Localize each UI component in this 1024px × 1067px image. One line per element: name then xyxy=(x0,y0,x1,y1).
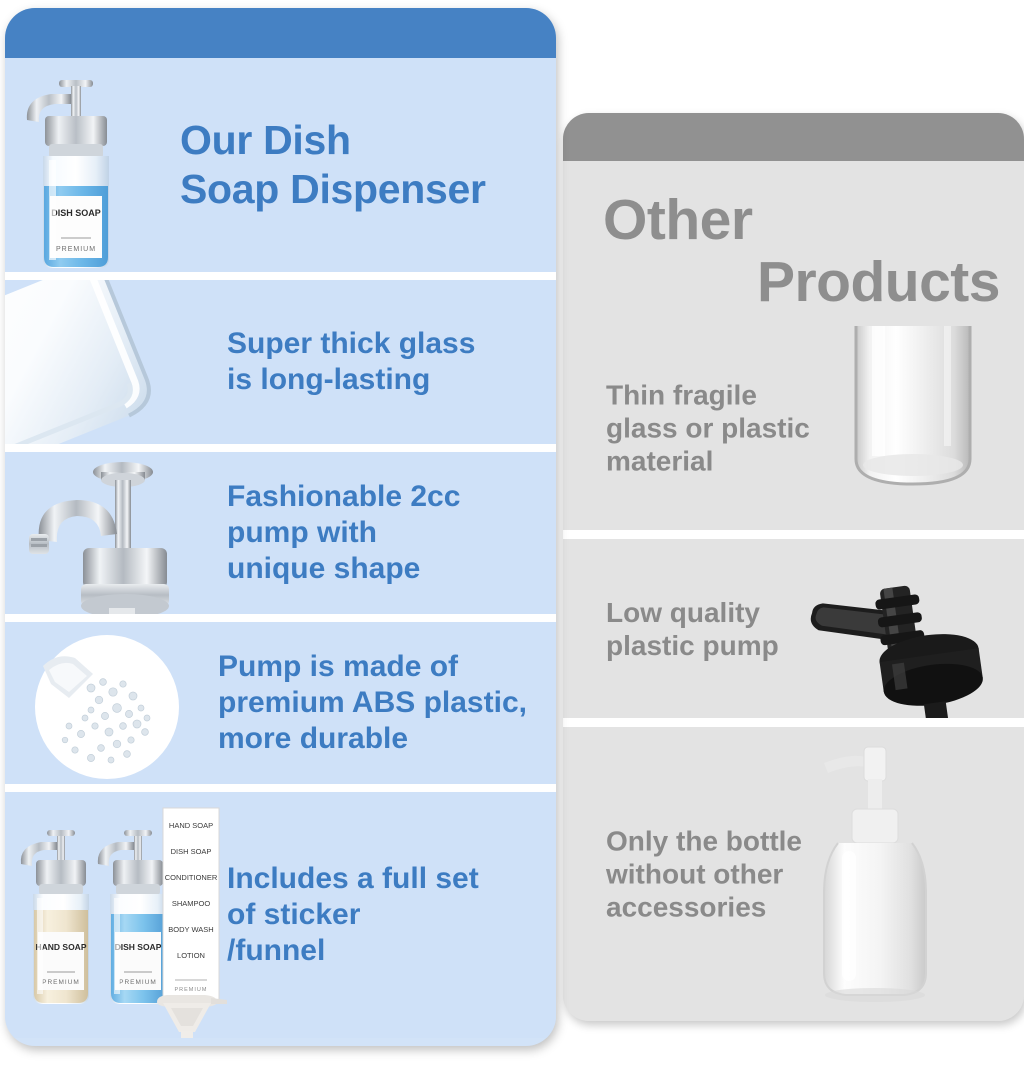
svg-text:PREMIUM: PREMIUM xyxy=(42,979,80,986)
svg-text:DISH SOAP: DISH SOAP xyxy=(115,942,162,952)
our-row-abs-text: Pump is made of premium ABS plastic, mor… xyxy=(218,649,556,757)
our-row-pump-text: Fashionable 2cc pump with unique shape xyxy=(227,479,547,587)
text-line: Pump is made of xyxy=(218,649,556,685)
black-plastic-pump-image xyxy=(794,539,1024,718)
abs-pellets-circle-image xyxy=(5,622,218,784)
text-line: premium ABS plastic, xyxy=(218,685,556,721)
our-product-panel: DISH SOAP PREMIUM Our Dish Soap Dispense… xyxy=(5,8,556,1046)
hero-dish-soap-dispenser-image: DISH SOAP PREMIUM xyxy=(5,58,180,272)
other-products-title-line1: Other xyxy=(603,189,1006,251)
svg-text:LOTION: LOTION xyxy=(177,951,205,960)
svg-text:HAND SOAP: HAND SOAP xyxy=(35,942,86,952)
svg-text:SHAMPOO: SHAMPOO xyxy=(172,899,211,908)
text-line: is long-lasting xyxy=(227,362,556,398)
text-line: Super thick glass xyxy=(227,326,556,362)
text-line: Fashionable 2cc xyxy=(227,479,547,515)
our-row-title: DISH SOAP PREMIUM Our Dish Soap Dispense… xyxy=(5,58,556,280)
other-products-rows: Thin fragile glass or plastic material xyxy=(563,326,1024,1021)
chrome-pump-image xyxy=(5,452,227,614)
text-line: Includes a full set xyxy=(227,861,556,897)
svg-text:PREMIUM: PREMIUM xyxy=(56,246,96,253)
sticker-sheet: HAND SOAP DISH SOAP CONDITIONER SHAMPOO … xyxy=(163,808,219,1000)
other-products-panel: Other Products Thin fragile glass or pla… xyxy=(563,113,1024,1021)
our-row-glass-text: Super thick glass is long-lasting xyxy=(227,326,556,398)
svg-text:PREMIUM: PREMIUM xyxy=(175,987,208,993)
text-line: /funnel xyxy=(227,933,556,969)
our-product-rows: DISH SOAP PREMIUM Our Dish Soap Dispense… xyxy=(5,58,556,1046)
svg-text:CONDITIONER: CONDITIONER xyxy=(165,873,218,882)
svg-text:PREMIUM: PREMIUM xyxy=(119,979,157,986)
our-row-abs: Pump is made of premium ABS plastic, mor… xyxy=(5,622,556,792)
svg-text:DISH SOAP: DISH SOAP xyxy=(171,847,212,856)
our-row-glass: Super thick glass is long-lasting xyxy=(5,280,556,452)
our-product-title: Our Dish Soap Dispenser xyxy=(180,116,555,214)
funnel xyxy=(157,995,227,1038)
svg-text:HAND SOAP: HAND SOAP xyxy=(169,821,213,830)
our-row-pump: Fashionable 2cc pump with unique shape xyxy=(5,452,556,622)
our-row-accessories-text: Includes a full set of sticker /funnel xyxy=(227,861,556,969)
our-row-accessories: HAND SOAP PREMIUM xyxy=(5,792,556,1038)
text-line: more durable xyxy=(218,721,556,757)
text-line: of sticker xyxy=(227,897,556,933)
text-line: pump with xyxy=(227,515,547,551)
other-products-title-line2: Products xyxy=(603,251,1006,313)
our-product-header-bar xyxy=(5,8,556,58)
svg-text:BODY WASH: BODY WASH xyxy=(168,925,213,934)
other-products-title: Other Products xyxy=(563,161,1024,326)
other-row-pump: Low quality plastic pump xyxy=(563,539,1024,727)
our-product-title-line1: Our Dish xyxy=(180,116,555,165)
other-row-accessories: Only the bottle without other accessorie… xyxy=(563,727,1024,1021)
text-line: unique shape xyxy=(227,551,547,587)
white-plastic-dispenser-image xyxy=(794,727,1024,1021)
other-products-header-bar xyxy=(563,113,1024,161)
comparison-infographic: Other Products Thin fragile glass or pla… xyxy=(0,0,1024,1067)
our-product-title-line2: Soap Dispenser xyxy=(180,165,555,214)
svg-text:DISH SOAP: DISH SOAP xyxy=(51,208,101,218)
plain-glass-jar-image xyxy=(794,326,1024,530)
other-row-material: Thin fragile glass or plastic material xyxy=(563,326,1024,539)
two-dispensers-stickers-funnel-image: HAND SOAP PREMIUM xyxy=(5,792,230,1038)
tilted-glass-bottle-image xyxy=(5,280,227,444)
